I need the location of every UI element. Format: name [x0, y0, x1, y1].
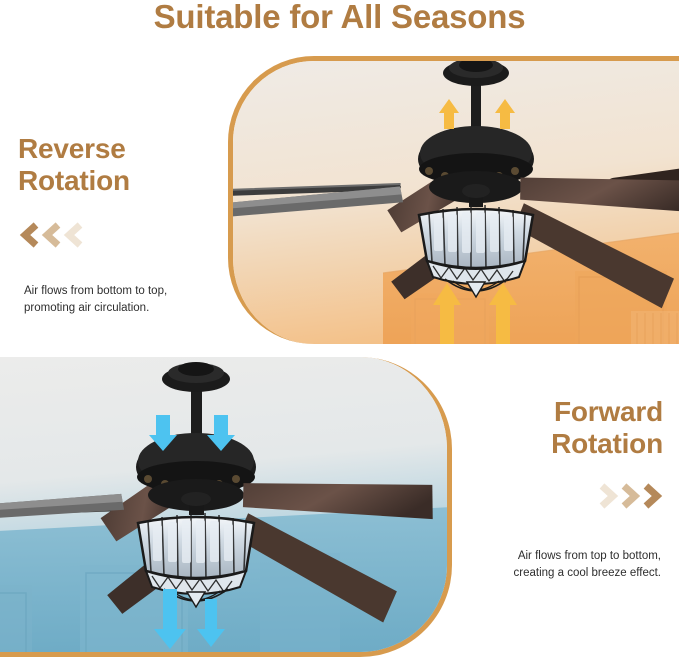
chevron-right-icon: [598, 483, 619, 509]
forward-chevrons: [551, 483, 663, 509]
forward-rotation-photo: [0, 357, 452, 657]
chevron-left-icon: [18, 222, 39, 248]
infographic-stage: Suitable for All Seasons Reverse Rotatio…: [0, 0, 679, 653]
reverse-rotation-photo: [228, 56, 679, 344]
forward-text-block: Forward Rotation: [551, 396, 663, 509]
forward-heading: Forward Rotation: [551, 396, 663, 461]
reverse-heading: Reverse Rotation: [18, 133, 130, 198]
forward-room-scene: [0, 357, 452, 657]
reverse-text-block: Reverse Rotation: [18, 133, 130, 248]
page-title: Suitable for All Seasons: [0, 0, 679, 36]
chevron-left-icon: [40, 222, 61, 248]
reverse-caption: Air flows from bottom to top, promoting …: [24, 283, 234, 316]
reverse-chevrons: [18, 222, 130, 248]
chevron-left-icon: [62, 222, 83, 248]
forward-caption: Air flows from top to bottom, creating a…: [443, 548, 661, 581]
chevron-right-icon: [620, 483, 641, 509]
reverse-room-scene: [233, 61, 679, 344]
chevron-right-icon: [642, 483, 663, 509]
